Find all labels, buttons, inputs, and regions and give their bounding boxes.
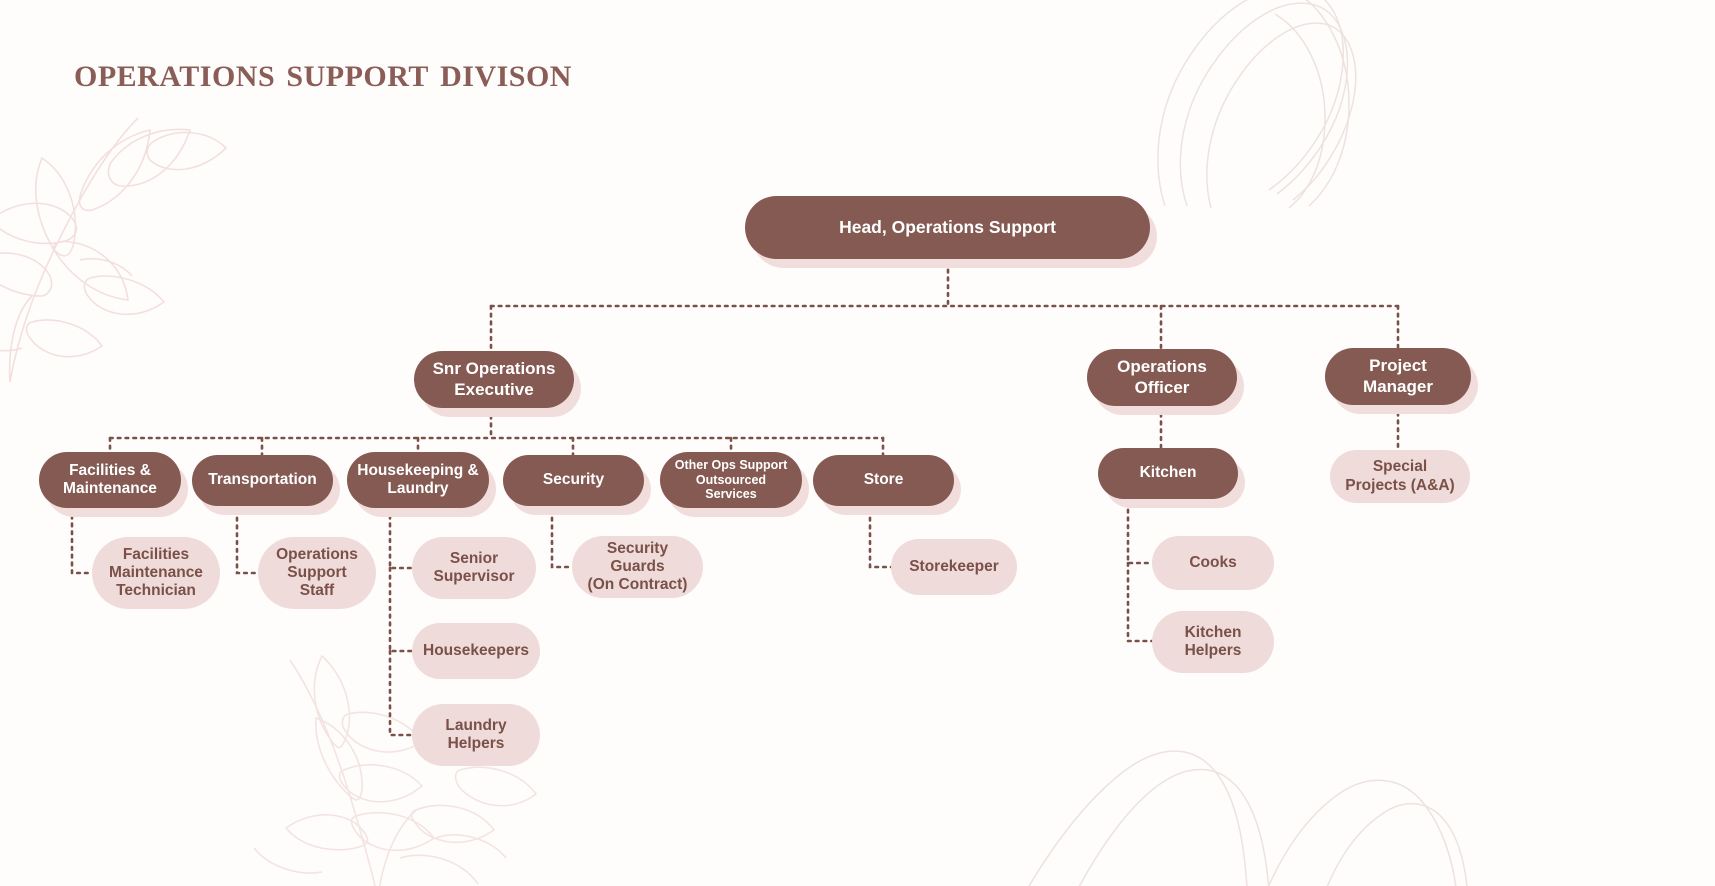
node-transportation[interactable]: Transportation: [192, 455, 333, 506]
node-project-manager[interactable]: Project Manager: [1325, 348, 1471, 405]
node-special-projects[interactable]: Special Projects (A&A): [1330, 450, 1470, 503]
node-security-guards[interactable]: Security Guards (On Contract): [572, 536, 703, 598]
node-label: Security Guards (On Contract): [572, 540, 703, 595]
node-snr-operations-executive[interactable]: Snr Operations Executive: [414, 351, 574, 408]
connector-store-to-storekeeper: [870, 510, 891, 567]
node-label: Facilities Maintenance Technician: [99, 546, 213, 601]
node-label: Special Projects (A&A): [1335, 458, 1464, 495]
node-housekeeping-laundry[interactable]: Housekeeping & Laundry: [347, 452, 489, 508]
connector-housekeeping-to-snr-supervisor: [390, 508, 412, 568]
node-label: Laundry Helpers: [435, 717, 516, 754]
node-head-operations-support[interactable]: Head, Operations Support: [745, 196, 1150, 259]
node-operations-officer[interactable]: Operations Officer: [1087, 349, 1237, 406]
node-label: Cooks: [1179, 554, 1246, 572]
node-label: Operations Officer: [1107, 357, 1217, 397]
node-store[interactable]: Store: [813, 455, 954, 506]
node-housekeepers[interactable]: Housekeepers: [412, 623, 540, 679]
connector-kitchen-to-kitchen-helpers: [1128, 563, 1152, 641]
node-cooks[interactable]: Cooks: [1152, 536, 1274, 590]
connector-facilities-to-technician: [72, 508, 92, 573]
node-label: Facilities & Maintenance: [53, 462, 167, 499]
node-label: Store: [854, 471, 914, 489]
node-label: Head, Operations Support: [829, 217, 1066, 238]
node-label: Security: [533, 471, 614, 489]
node-label: Project Manager: [1353, 356, 1443, 396]
connector-transportation-to-staff: [237, 510, 258, 573]
node-kitchen-helpers[interactable]: Kitchen Helpers: [1152, 611, 1274, 673]
node-laundry-helpers[interactable]: Laundry Helpers: [412, 704, 540, 766]
connector-housekeeping-to-laundry: [390, 651, 412, 735]
node-label: Operations Support Staff: [258, 546, 376, 601]
node-senior-supervisor[interactable]: Senior Supervisor: [412, 537, 536, 599]
node-label: Senior Supervisor: [424, 550, 525, 587]
node-operations-support-staff[interactable]: Operations Support Staff: [258, 537, 376, 609]
node-facilities-maintenance[interactable]: Facilities & Maintenance: [39, 452, 181, 508]
node-facilities-maintenance-technician[interactable]: Facilities Maintenance Technician: [92, 537, 220, 609]
node-label: Storekeeper: [899, 558, 1009, 576]
node-label: Other Ops Support Outsourced Services: [660, 458, 802, 502]
node-label: Housekeeping & Laundry: [347, 462, 488, 499]
connector-security-to-guards: [552, 510, 572, 567]
node-storekeeper[interactable]: Storekeeper: [891, 539, 1017, 595]
node-kitchen[interactable]: Kitchen: [1098, 448, 1238, 499]
connector-kitchen-to-cooks: [1128, 502, 1152, 563]
node-label: Kitchen: [1130, 464, 1207, 482]
connector-lines: [0, 0, 1715, 886]
org-chart-canvas: Operations Support Divison: [0, 0, 1715, 886]
node-label: Housekeepers: [413, 642, 539, 660]
node-other-ops-support-outsourced-services[interactable]: Other Ops Support Outsourced Services: [660, 452, 802, 508]
connector-housekeeping-to-housekeepers: [390, 568, 412, 651]
node-security[interactable]: Security: [503, 455, 644, 506]
node-label: Kitchen Helpers: [1175, 624, 1252, 661]
node-label: Snr Operations Executive: [423, 359, 566, 399]
node-label: Transportation: [198, 471, 327, 489]
